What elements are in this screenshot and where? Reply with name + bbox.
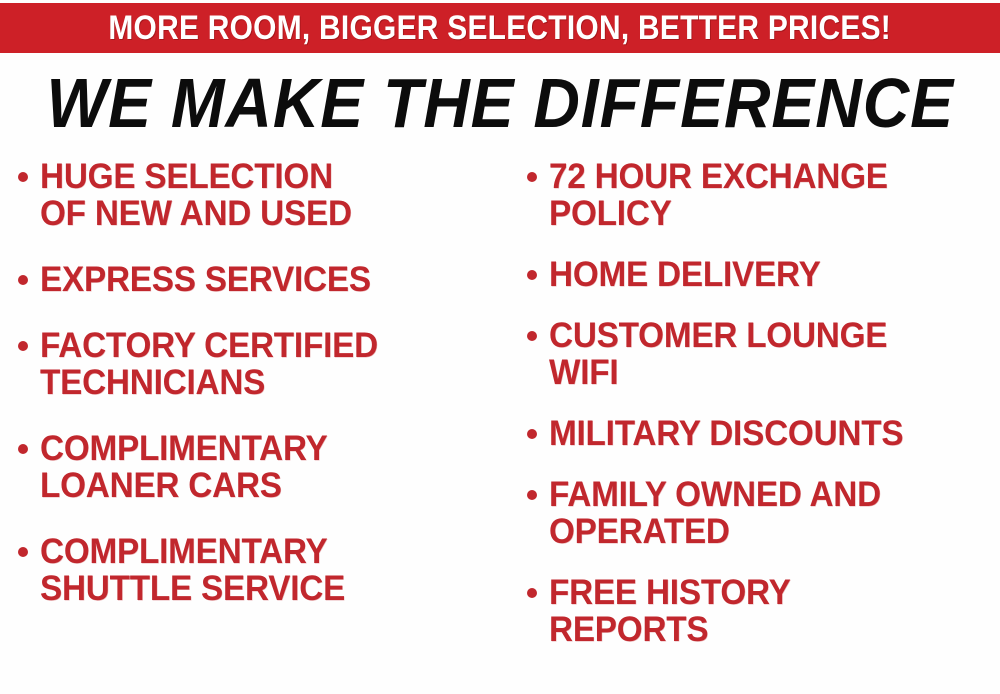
benefits-columns: HUGE SELECTION OF NEW AND USED EXPRESS S… — [0, 158, 1000, 694]
list-item-label: CUSTOMER LOUNGE WIFI — [549, 317, 887, 391]
bullet-dot-icon — [18, 341, 28, 351]
list-item-label: 72 HOUR EXCHANGE POLICY — [549, 158, 888, 232]
list-item-label: MILITARY DISCOUNTS — [549, 415, 903, 452]
list-item: CUSTOMER LOUNGE WIFI — [527, 317, 1000, 391]
list-item: FAMILY OWNED AND OPERATED — [527, 476, 1000, 550]
promo-banner-text: MORE ROOM, BIGGER SELECTION, BETTER PRIC… — [109, 11, 892, 45]
bullet-dot-icon — [18, 547, 28, 557]
list-item-label: HUGE SELECTION OF NEW AND USED — [40, 158, 352, 232]
list-item-label: COMPLIMENTARY LOANER CARS — [40, 430, 328, 504]
top-promo-banner: MORE ROOM, BIGGER SELECTION, BETTER PRIC… — [0, 3, 1000, 53]
benefits-column-left: HUGE SELECTION OF NEW AND USED EXPRESS S… — [0, 158, 505, 636]
bullet-dot-icon — [527, 490, 537, 500]
bullet-dot-icon — [527, 270, 537, 280]
list-item: HUGE SELECTION OF NEW AND USED — [18, 158, 505, 232]
bullet-dot-icon — [18, 275, 28, 285]
bullet-dot-icon — [527, 588, 537, 598]
list-item: COMPLIMENTARY LOANER CARS — [18, 430, 505, 504]
list-item-label: FREE HISTORY REPORTS — [549, 574, 791, 648]
list-item-label: EXPRESS SERVICES — [40, 261, 371, 298]
bullet-dot-icon — [18, 172, 28, 182]
bullet-dot-icon — [527, 429, 537, 439]
list-item: EXPRESS SERVICES — [18, 261, 505, 298]
list-item-label: FAMILY OWNED AND OPERATED — [549, 476, 881, 550]
headline-text: WE MAKE THE DIFFERENCE — [46, 68, 954, 138]
headline: WE MAKE THE DIFFERENCE — [0, 68, 1000, 138]
list-item: 72 HOUR EXCHANGE POLICY — [527, 158, 1000, 232]
list-item: FACTORY CERTIFIED TECHNICIANS — [18, 327, 505, 401]
list-item: FREE HISTORY REPORTS — [527, 574, 1000, 648]
list-item: COMPLIMENTARY SHUTTLE SERVICE — [18, 533, 505, 607]
bullet-dot-icon — [18, 444, 28, 454]
list-item-label: FACTORY CERTIFIED TECHNICIANS — [40, 327, 378, 401]
list-item: HOME DELIVERY — [527, 256, 1000, 293]
list-item: MILITARY DISCOUNTS — [527, 415, 1000, 452]
benefits-column-right: 72 HOUR EXCHANGE POLICY HOME DELIVERY CU… — [505, 158, 1000, 672]
list-item-label: COMPLIMENTARY SHUTTLE SERVICE — [40, 533, 345, 607]
dealership-benefits-poster: MORE ROOM, BIGGER SELECTION, BETTER PRIC… — [0, 0, 1000, 694]
list-item-label: HOME DELIVERY — [549, 256, 821, 293]
bullet-dot-icon — [527, 172, 537, 182]
bullet-dot-icon — [527, 331, 537, 341]
